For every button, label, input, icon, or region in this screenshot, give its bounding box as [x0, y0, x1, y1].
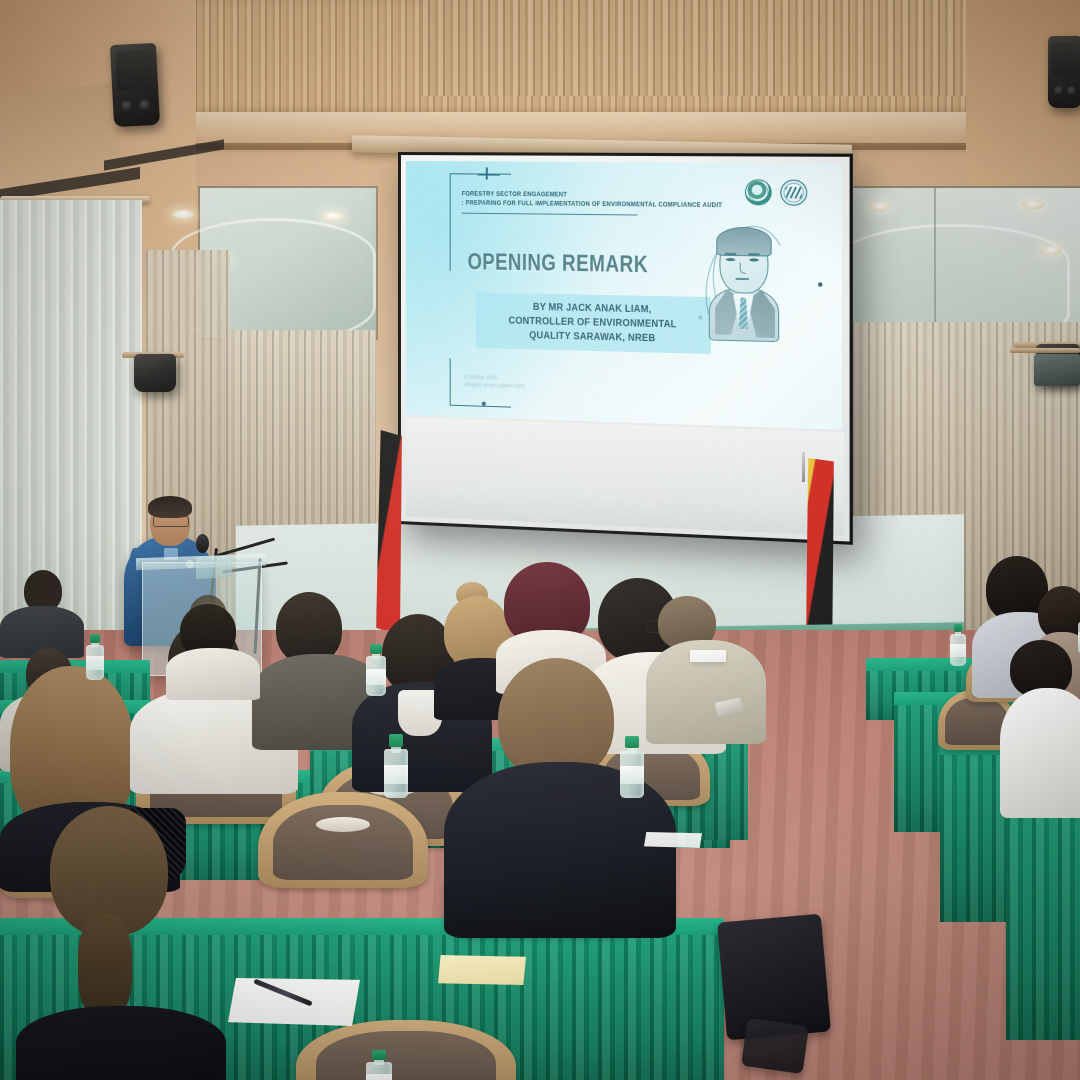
wall-speaker-mid-left: [134, 354, 176, 392]
banquet-chair-3[interactable]: [258, 792, 428, 888]
slide-header: FORESTRY SECTOR ENGAGEMENT : PREPARING F…: [462, 190, 735, 211]
water-bottle-4[interactable]: [950, 624, 966, 666]
ceiling-downlight-3: [868, 202, 890, 211]
portrait-eye-left: [726, 258, 736, 261]
attendee-far-left-man: [0, 570, 80, 656]
paper-on-mid-table[interactable]: [644, 832, 702, 848]
attendee-ponytail: [78, 914, 132, 1020]
water-bottle-3[interactable]: [620, 736, 644, 798]
portrait-nose: [740, 262, 746, 274]
slide-tick-top: [478, 173, 500, 175]
nreb-seal-logo: [745, 179, 772, 205]
attendee-torso: [166, 648, 260, 700]
attendee-right-man-white: [1000, 640, 1080, 810]
agency-seal-logo: [780, 179, 807, 205]
flag-right: [806, 458, 834, 636]
speaker-portrait-illustration: [705, 222, 786, 346]
projector-screen-surface: FORESTRY SECTOR ENGAGEMENT : PREPARING F…: [401, 155, 850, 542]
presentation-slide: FORESTRY SECTOR ENGAGEMENT : PREPARING F…: [406, 161, 842, 430]
portrait-eye-right: [749, 258, 759, 261]
presenter-glasses: [153, 516, 189, 527]
slide-dot-bottom: [482, 402, 486, 406]
projector-mount-arm: [1010, 348, 1080, 353]
ceiling-mounted-projector: [1034, 354, 1080, 386]
attendee-near-stage: [166, 604, 256, 684]
window-mullion: [934, 188, 936, 338]
ceiling-downlight-1: [172, 210, 194, 219]
slide-title: OPENING REMARK: [436, 248, 682, 279]
water-bottle-5[interactable]: [86, 634, 104, 680]
ceiling-downlight-5: [1040, 246, 1062, 255]
table-right-front: [1006, 800, 1080, 1040]
paper-on-back-table[interactable]: [690, 650, 726, 662]
conference-hall-photo: FORESTRY SECTOR ENGAGEMENT : PREPARING F…: [0, 0, 1080, 1080]
logo-ring-right: [784, 183, 804, 203]
attendee-torso: [16, 1006, 226, 1080]
presenter-hair: [148, 496, 192, 518]
attendee-front-bottom-left: [26, 806, 206, 1080]
ceiling-downlight-4: [1022, 200, 1044, 209]
water-bottle-1[interactable]: [366, 644, 386, 696]
attendee-torso: [1000, 688, 1080, 818]
wall-speaker-top-right: [1048, 36, 1080, 108]
slide-tick-top-v: [486, 167, 488, 179]
flag-pole-right: [802, 452, 805, 482]
microphone-head-1: [196, 534, 209, 553]
black-shoe-bag[interactable]: [741, 1018, 809, 1074]
banquet-chair-front[interactable]: [296, 1020, 516, 1080]
podium-equipment: [196, 555, 232, 579]
wall-speaker-top-left: [110, 43, 160, 127]
slide-dot-right: [818, 282, 822, 286]
projector-screen-blank-area: [406, 417, 844, 536]
projector-screen: FORESTRY SECTOR ENGAGEMENT : PREPARING F…: [398, 152, 853, 545]
logo-ring-left: [748, 182, 768, 202]
ceiling-downlight-2: [322, 212, 344, 221]
water-bottle-2[interactable]: [384, 734, 408, 798]
portrait-mouth: [735, 278, 749, 280]
water-bottle-7[interactable]: [366, 1050, 392, 1080]
yellow-notepad[interactable]: [438, 955, 526, 985]
portrait-brow-left: [725, 253, 737, 255]
white-paper-sheet[interactable]: [228, 978, 360, 1026]
slide-subtitle-box: BY MR JACK ANAK LIAM, CONTROLLER OF ENVI…: [476, 293, 711, 355]
portrait-brow-right: [748, 253, 760, 255]
